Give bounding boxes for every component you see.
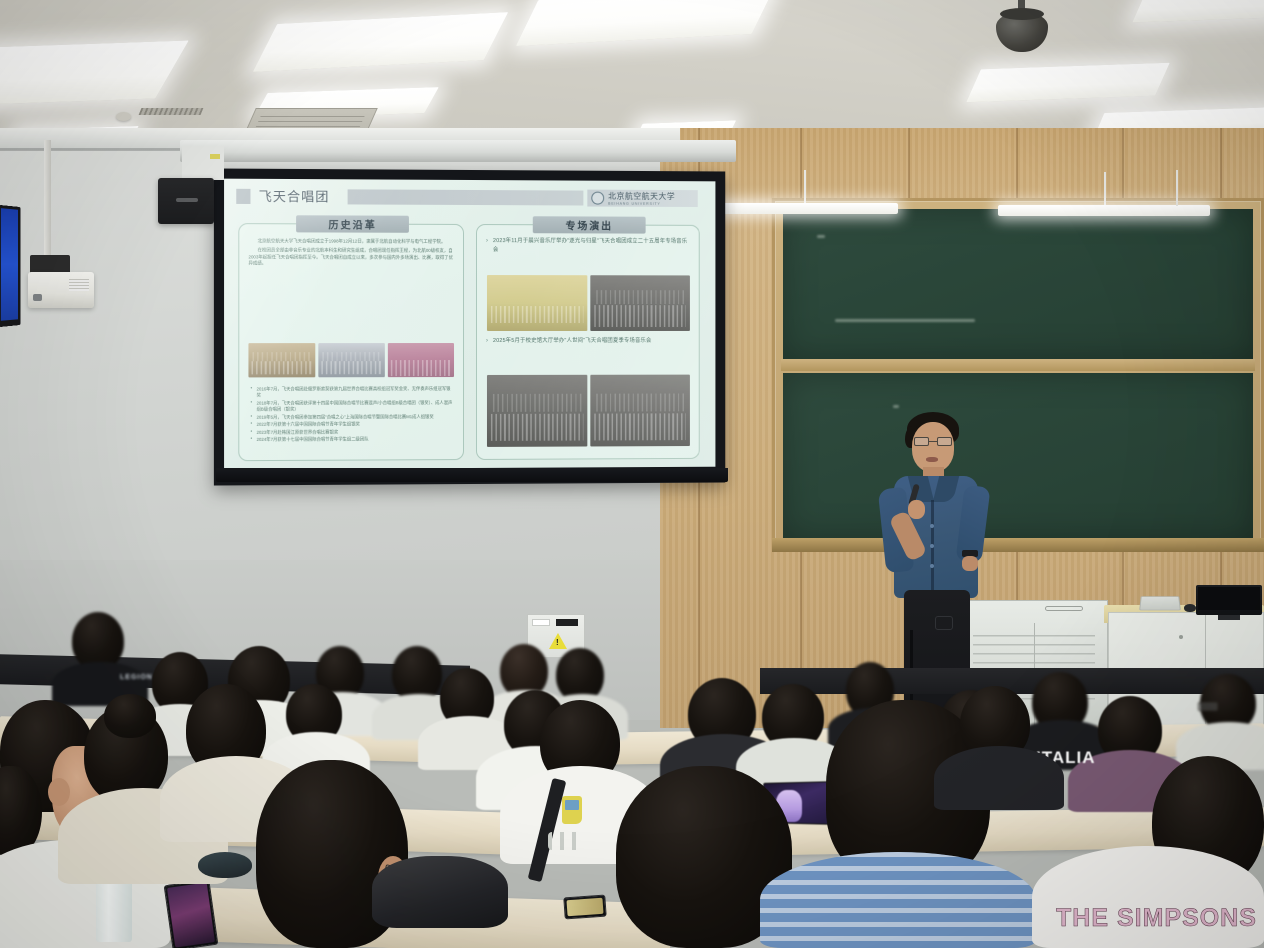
slide-bullet: 2016年7月，飞天合唱团赴俄罗斯索契获第九届世界合唱比赛高校组冠军奖金奖、无伴… [250, 386, 454, 399]
slide-title-marker [236, 189, 250, 204]
smartphone-on-desk[interactable] [563, 895, 606, 920]
podium-lock-icon [1179, 635, 1183, 639]
slide-thumbnail [487, 275, 587, 331]
slide-right-card: 专场演出 2023年11月于晨兴音乐厅举办"逐光与归星"飞天合唱团成立二十五周年… [476, 224, 700, 460]
strip-light-bar [998, 205, 1210, 216]
university-name-cn: 北京航空航天大学 [608, 191, 675, 202]
slide-right-thumbnails-bottom [487, 375, 691, 447]
chalk-smudge [817, 235, 825, 238]
presentation-slide: 飞天合唱团 北京航空航天大学 BEIHANG UNIVERSITY 历史沿革 北… [224, 179, 715, 470]
presenter-shirt-button [930, 564, 934, 568]
slide-right-thumbnails-top [487, 275, 691, 331]
presenter-shirt-placket [931, 500, 934, 596]
mouse-on-desk [198, 852, 252, 878]
speaker-slot-icon [176, 198, 198, 202]
thumbnail-choir-rows [594, 413, 686, 441]
ceiling-cable-tray [139, 108, 204, 115]
thumbnail-choir-rows [491, 414, 583, 442]
panel-display-strip [556, 619, 578, 626]
podium-monitor[interactable] [1196, 585, 1262, 615]
slide-bullet: 2023年7月赴韩国江原获世界合唱比赛银奖 [250, 429, 454, 436]
thumbnail-choir-rows [390, 360, 451, 376]
slide-left-card-tab: 历史沿革 [296, 215, 409, 233]
blackboard-chalk-tray [772, 538, 1264, 552]
slide-thumbnail [590, 375, 690, 447]
thumbnail-choir-rows [493, 393, 581, 412]
cabinet-handle-icon[interactable] [1045, 606, 1083, 611]
striped-shirt-pattern [760, 852, 1036, 948]
ceiling-light-panel [516, 0, 774, 46]
student-glasses-icon [1198, 702, 1218, 711]
slide-thumbnail [487, 375, 587, 447]
strip-light-wire [1176, 170, 1178, 206]
blackboard-pane-upper [783, 209, 1253, 359]
podium-control-tablet[interactable] [1139, 596, 1181, 610]
bunny-graphic-icon [548, 832, 582, 850]
blackboard [772, 198, 1264, 550]
slide-thumbnail [248, 343, 315, 377]
slide-right-bullet: 2023年11月于晨兴音乐厅举办"逐光与归星"飞天合唱团成立二十五周年专场音乐会 [485, 237, 689, 256]
smartphone[interactable] [164, 879, 219, 948]
slide-right-bullet: 2025年5月于校史馆大厅举办"人世间"飞天合唱团夏季专场音乐会 [485, 337, 689, 347]
slide-thumbnail [388, 343, 454, 377]
glasses-bridge [929, 441, 937, 442]
podium-monitor-screen [1198, 587, 1260, 610]
bracket-label [210, 154, 220, 159]
wall-speaker [158, 178, 214, 224]
blackboard-pane-lower [783, 373, 1253, 539]
thumbnail-choir-rows [322, 352, 381, 361]
podium-monitor-stand [1218, 615, 1240, 620]
university-name-en: BEIHANG UNIVERSITY [608, 202, 675, 206]
suspended-strip-light [998, 172, 1210, 216]
side-display-monitor [0, 205, 21, 327]
projector-vent [69, 279, 89, 291]
ceiling-projector [28, 272, 94, 308]
podium-mouse[interactable] [1184, 604, 1196, 612]
university-logo: 北京航空航天大学 BEIHANG UNIVERSITY [587, 190, 697, 207]
thumbnail-choir-rows [251, 362, 313, 375]
student-shoulders [934, 746, 1064, 810]
slide-right-card-tab: 专场演出 [533, 216, 646, 233]
pendant-lamp-ring [1000, 8, 1044, 20]
slide-bullet: 2018年7月，飞天合唱团获评第十四届中国国际合唱节比赛混声/小合唱组B级合唱团… [250, 400, 454, 414]
slide-bullet: 2019年5月，飞天合唱团参加第四届"合唱之心"上海国际合唱节暨国际合唱比赛M1… [250, 414, 454, 421]
slide-left-bullet-list: 2016年7月，飞天合唱团赴俄罗斯索契获第九届世界合唱比赛高校组冠军奖金奖、无伴… [250, 386, 454, 444]
speaker-bracket [182, 146, 224, 180]
phone-screen[interactable] [566, 898, 603, 916]
shirt-logo-text: THE SIMPSONS [1056, 904, 1257, 933]
glasses-right-lens [937, 437, 952, 446]
ceiling-light-panel [0, 41, 189, 106]
presenter-shirt-button [930, 524, 934, 528]
ceiling-light-panel [966, 63, 1170, 102]
phone-screen[interactable] [167, 883, 215, 948]
slide-header-bar [348, 189, 584, 205]
thumbnail-choir-rows [596, 393, 684, 412]
hazard-warning-icon [549, 633, 567, 649]
gameboy-screen-icon [565, 800, 579, 810]
thumbnail-choir-rows [594, 305, 686, 326]
presenter-pocket [935, 616, 953, 630]
projection-screen-bottom-bar [216, 468, 728, 482]
thumbnail-choir-rows [596, 290, 684, 305]
chalk-smudge [835, 319, 975, 322]
ceiling-light-panel [253, 12, 508, 72]
thumbnail-choir-rows [321, 361, 382, 374]
suspended-strip-light [710, 170, 898, 214]
projector-lens-icon [33, 294, 42, 301]
presenter-right-hand [962, 556, 978, 571]
ceiling-light-panel [1132, 0, 1264, 22]
slide-paragraph: 在校团员全部由非音乐专业的北航本科生和研究生组成，合唱团现任指挥王程，为北航00… [248, 247, 454, 268]
shirt-logo-text: LEGION [120, 674, 153, 681]
student-ear [48, 778, 70, 806]
panel-label-tag [532, 619, 550, 626]
slide-bullet: 2022年7月获第十六届中国国际合唱节青年学生组银奖 [250, 421, 454, 428]
presenter-head [912, 422, 954, 472]
projection-screen: 飞天合唱团 北京航空航天大学 BEIHANG UNIVERSITY 历史沿革 北… [214, 168, 725, 485]
slide-paragraph: 北京航空航天大学飞天合唱团成立于1998年12月12日，隶属于北航自动化科学与电… [248, 238, 454, 246]
slide-left-thumbnails [248, 343, 456, 377]
blackboard-divider [781, 359, 1255, 371]
backpack-on-desk [372, 856, 508, 928]
presenter-mouth [926, 457, 938, 462]
slide-header: 飞天合唱团 北京航空航天大学 BEIHANG UNIVERSITY [236, 187, 705, 209]
projection-screen-housing [180, 140, 736, 162]
thumbnail-choir-rows [252, 352, 311, 361]
presenter-glasses-icon [914, 437, 952, 446]
lecture-hall-scene: 飞天合唱团 北京航空航天大学 BEIHANG UNIVERSITY 历史沿革 北… [0, 0, 1264, 948]
slide-bullet: 2024年7月获第十七届中国国际合唱节青年学生组二级团队 [250, 436, 454, 443]
presenter-shirt-button [930, 544, 934, 548]
presenter-left-hand [908, 500, 925, 519]
slide-thumbnail [590, 275, 690, 331]
slide-thumbnail [318, 343, 385, 377]
side-display-screen[interactable] [1, 208, 18, 321]
slide-title: 飞天合唱团 [259, 187, 330, 206]
projector-mount-pole [44, 140, 51, 260]
glasses-left-lens [914, 437, 929, 446]
pendant-lamp [996, 0, 1048, 52]
strip-light-bar [710, 203, 898, 214]
ceiling-vent-louvers [255, 116, 364, 128]
ceiling-smoke-detector [116, 112, 131, 121]
thumbnail-choir-rows [491, 306, 583, 323]
student-hair-bun [104, 694, 156, 738]
university-seal-icon [591, 192, 604, 205]
slide-left-card: 历史沿革 北京航空航天大学飞天合唱团成立于1998年12月12日，隶属于北航自动… [238, 223, 464, 461]
